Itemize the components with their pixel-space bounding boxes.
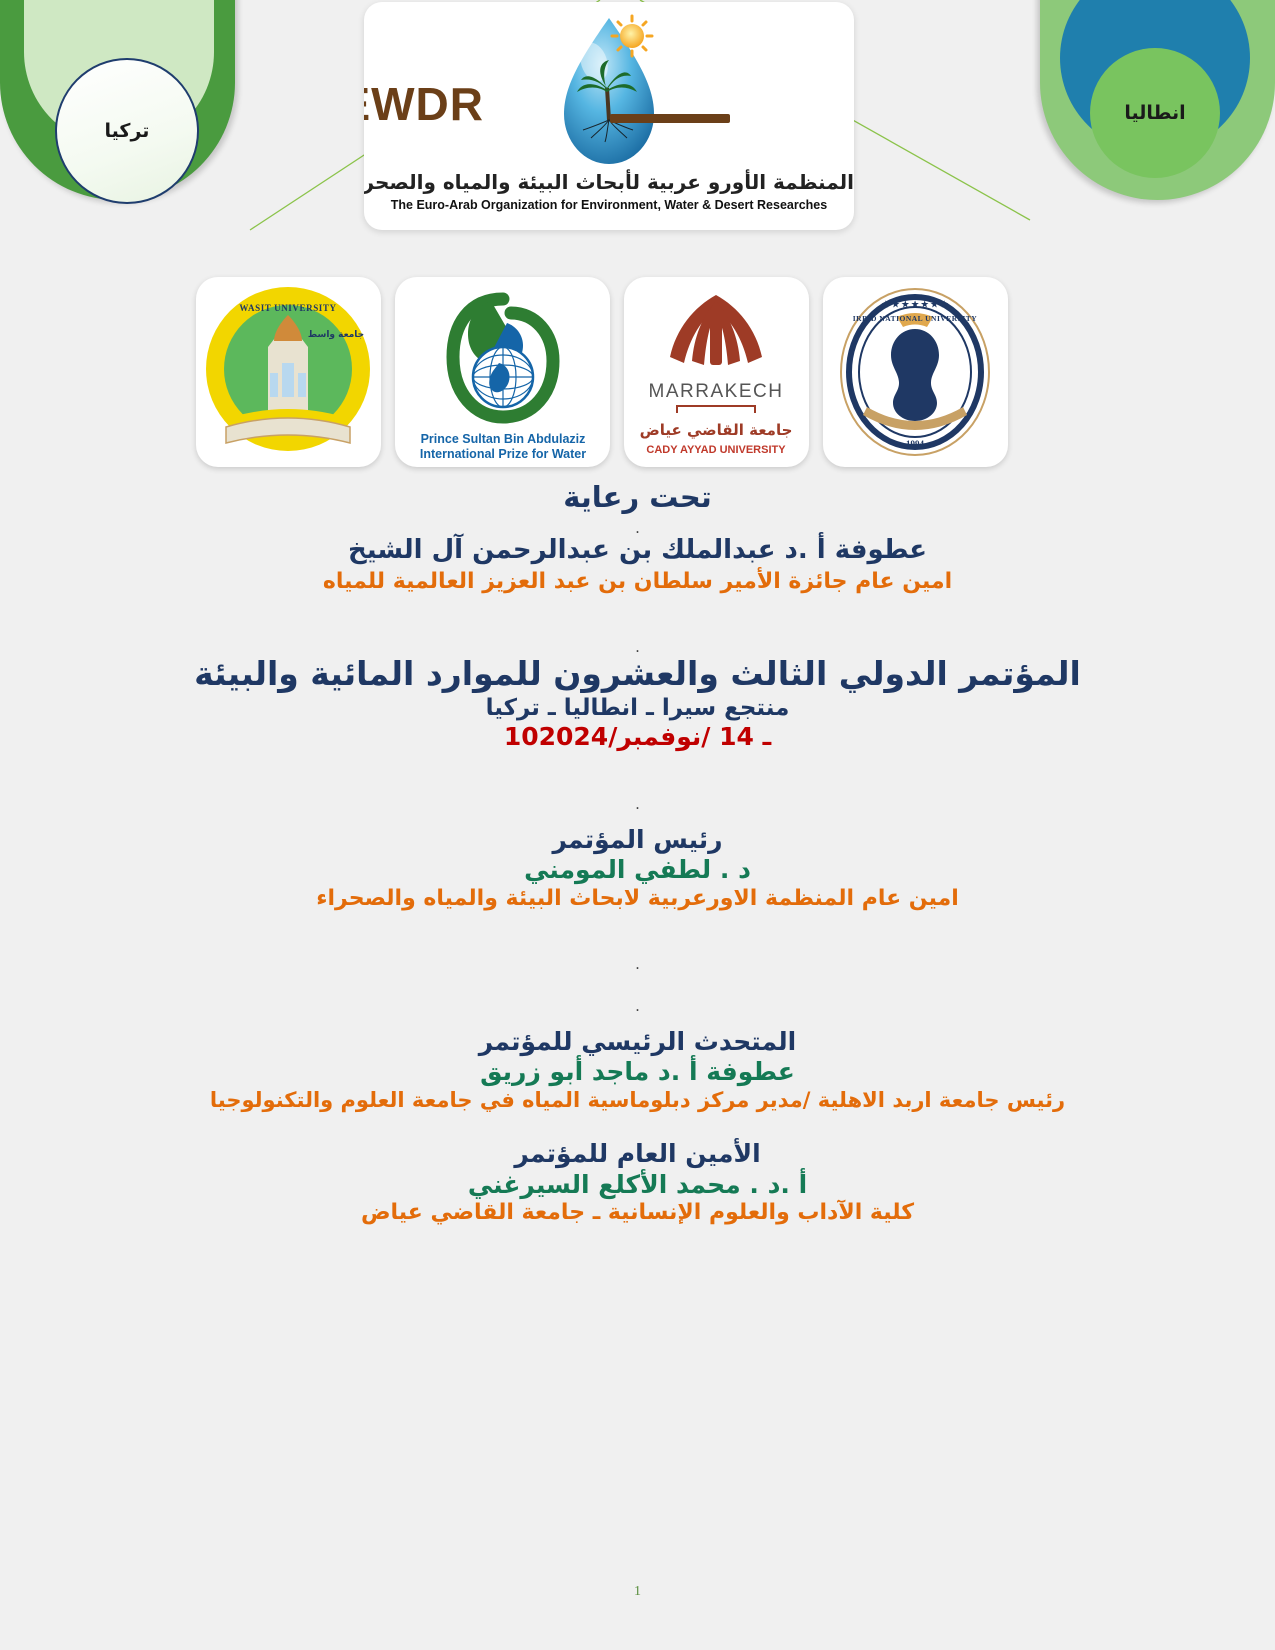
logo-card-wasit-university: WASIT UNIVERSITY جامعة واسط (196, 277, 381, 467)
logo-card-irbid-national-university: ★ ★ ★ ★ ★ ★ ★ 1994 IRBID NATIONAL UNIVER… (823, 277, 1008, 467)
patron-role: امين عام جائزة الأمير سلطان بن عبد العزي… (0, 569, 1275, 596)
decorative-dot-4: . (0, 955, 1275, 971)
conference-date: 10ـ 14 /نوفمبر/2024 (0, 722, 1275, 753)
ewdr-arabic-name: المنظمة الأورو عربية لأبحاث البيئة والمي… (364, 170, 854, 194)
patron-name: عطوفة أ .د عبدالملك بن عبدالرحمن آل الشي… (0, 535, 1275, 567)
wasit-arabic-label: جامعة واسط (308, 330, 364, 340)
ewdr-logo-card: EWDR المنظمة الأورو عربية لأبحاث البيئة … (364, 2, 854, 230)
patronage-label: تحت رعاية (0, 480, 1275, 515)
turkey-bubble-core: تركيا (55, 58, 199, 204)
antalya-bubble-core: انطاليا (1090, 48, 1220, 178)
prince-sultan-prize-globe-icon: Prince Sultan Bin Abdulaziz Internationa… (395, 277, 610, 467)
logo-card-prince-sultan-prize: Prince Sultan Bin Abdulaziz Internationa… (395, 277, 610, 467)
decorative-dot-5: . (0, 997, 1275, 1013)
conference-cover-text: تحت رعاية . عطوفة أ .د عبدالملك بن عبدال… (0, 480, 1275, 1227)
cady-ayyad-crown-icon: MARRAKECH جامعة القاضي عياض CADY AYYAD U… (624, 277, 809, 467)
ewdr-english-name: The Euro-Arab Organization for Environme… (364, 198, 854, 212)
secretary-affiliation: كلية الآداب والعلوم الإنسانية ـ جامعة ال… (0, 1200, 1275, 1227)
secretary-name: أ .د . محمد الأكلع السيرغني (0, 1170, 1275, 1201)
decorative-dot-1: . (0, 519, 1275, 535)
conference-title: المؤتمر الدولي الثالث والعشرون للموارد ا… (0, 654, 1275, 694)
svg-text:★ ★ ★ ★ ★ ★ ★: ★ ★ ★ ★ ★ ★ ★ (882, 299, 949, 309)
secretary-label: الأمين العام للمؤتمر (0, 1139, 1275, 1170)
decorative-dot-2: . (0, 638, 1275, 654)
keynote-name: عطوفة أ .د ماجد أبو زريق (0, 1057, 1275, 1088)
chair-name: د . لطفي المومني (0, 855, 1275, 886)
sponsor-logo-strip: ★ ★ ★ ★ ★ ★ ★ 1994 IRBID NATIONAL UNIVER… (196, 277, 1008, 467)
wasit-university-seal-icon: WASIT UNIVERSITY جامعة واسط (196, 277, 381, 467)
antalya-label: انطاليا (1124, 102, 1185, 124)
keynote-affiliation: رئيس جامعة اربد الاهلية /مدير مركز دبلوم… (0, 1088, 1275, 1114)
decorative-dot-3: . (0, 795, 1275, 811)
chair-affiliation: امين عام المنظمة الاورعربية لابحاث البيئ… (0, 886, 1275, 913)
page-number: 1 (0, 1584, 1275, 1600)
ewdr-waterdrop-logo-icon: EWDR (364, 2, 854, 180)
cady-ayyad-arabic-label: جامعة القاضي عياض (640, 421, 793, 439)
prince-sultan-line1: Prince Sultan Bin Abdulaziz (421, 432, 586, 446)
irbid-year-label: 1994 (906, 439, 925, 449)
logo-card-cady-ayyad-university: MARRAKECH جامعة القاضي عياض CADY AYYAD U… (624, 277, 809, 467)
cady-ayyad-english-label: CADY AYYAD UNIVERSITY (646, 444, 786, 456)
svg-text:EWDR: EWDR (364, 78, 484, 130)
header-banner: تركيا انطاليا (0, 0, 1275, 235)
conference-venue: منتجع سيرا ـ انطاليا ـ تركيا (0, 694, 1275, 722)
marrakech-label: MARRAKECH (649, 381, 784, 402)
keynote-label: المتحدث الرئيسي للمؤتمر (0, 1027, 1275, 1058)
prince-sultan-line2: International Prize for Water (420, 447, 586, 461)
irbid-national-university-seal-icon: ★ ★ ★ ★ ★ ★ ★ 1994 IRBID NATIONAL UNIVER… (823, 277, 1008, 467)
chair-label: رئيس المؤتمر (0, 825, 1275, 856)
irbid-english-label: IRBID NATIONAL UNIVERSITY (853, 314, 978, 323)
wasit-english-label: WASIT UNIVERSITY (239, 303, 336, 313)
turkey-label: تركيا (105, 120, 150, 142)
